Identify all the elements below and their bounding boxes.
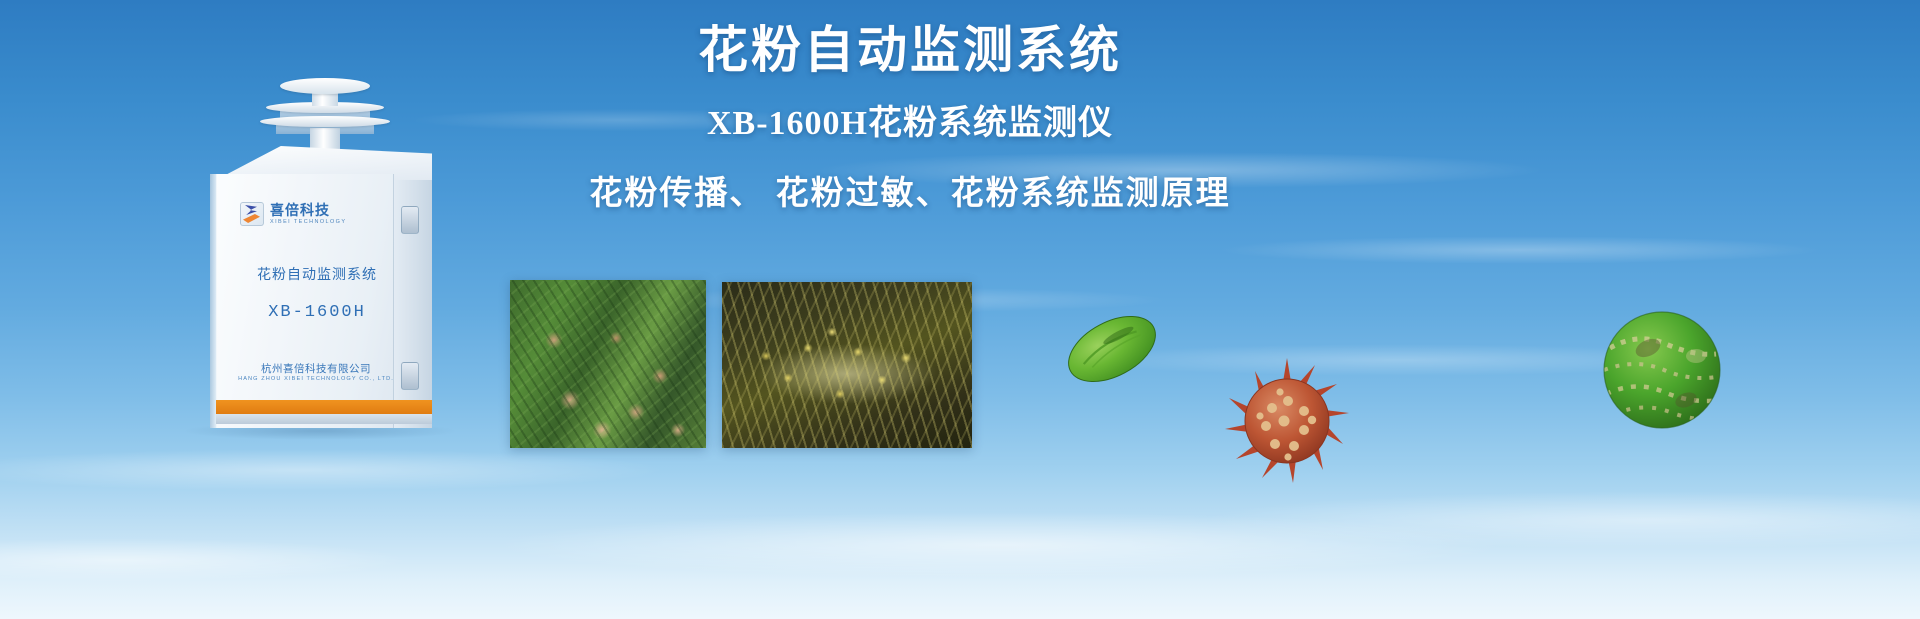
cypress-pollen-cones-photo bbox=[510, 280, 706, 448]
inlet-cap bbox=[280, 78, 370, 94]
device-latch-top[interactable] bbox=[401, 206, 419, 234]
banner-title: 花粉自动监测系统 bbox=[560, 22, 1260, 78]
device-company-chinese-label: 杭州喜倍科技有限公司 bbox=[236, 361, 396, 376]
device-foot bbox=[216, 414, 432, 424]
red-spiky-pollen-grain bbox=[1222, 356, 1352, 486]
green-oval-pollen-grain bbox=[1062, 316, 1162, 382]
device-brand-logo: 喜倍科技 XIBEI TECHNOLOGY bbox=[240, 202, 346, 226]
device-left-edge bbox=[210, 174, 217, 428]
logo-chinese-name: 喜倍科技 bbox=[270, 203, 346, 217]
pollen-monitoring-banner: 喜倍科技 XIBEI TECHNOLOGY 花粉自动监测系统 XB-1600H … bbox=[0, 0, 1920, 619]
device-model-chinese-label: 花粉自动监测系统 bbox=[252, 264, 382, 284]
logo-english-name: XIBEI TECHNOLOGY bbox=[270, 220, 346, 226]
banner-description: 花粉传播、 花粉过敏、花粉系统监测原理 bbox=[560, 173, 1260, 213]
banner-subtitle: XB-1600H花粉系统监测仪 bbox=[560, 104, 1260, 145]
pollen-monitor-device: 喜倍科技 XIBEI TECHNOLOGY 花粉自动监测系统 XB-1600H … bbox=[196, 78, 456, 428]
catkin-stamen-texture bbox=[722, 282, 972, 448]
headline-block: 花粉自动监测系统 XB-1600H花粉系统监测仪 花粉传播、 花粉过敏、花粉系统… bbox=[560, 22, 1260, 212]
air-inlet-stack bbox=[250, 78, 400, 144]
cypress-needle-texture bbox=[510, 280, 706, 448]
inlet-disc-lower bbox=[260, 116, 390, 127]
device-orange-base-stripe bbox=[216, 400, 432, 414]
green-textured-pollen-sphere bbox=[1600, 308, 1724, 432]
yellow-catkin-pollen-photo bbox=[722, 282, 972, 448]
xibei-logo-icon bbox=[240, 202, 264, 226]
device-company-english-label: HANG ZHOU XIBEI TECHNOLOGY CO., LTD. bbox=[228, 376, 404, 382]
device-model-number-label: XB-1600H bbox=[252, 303, 382, 322]
